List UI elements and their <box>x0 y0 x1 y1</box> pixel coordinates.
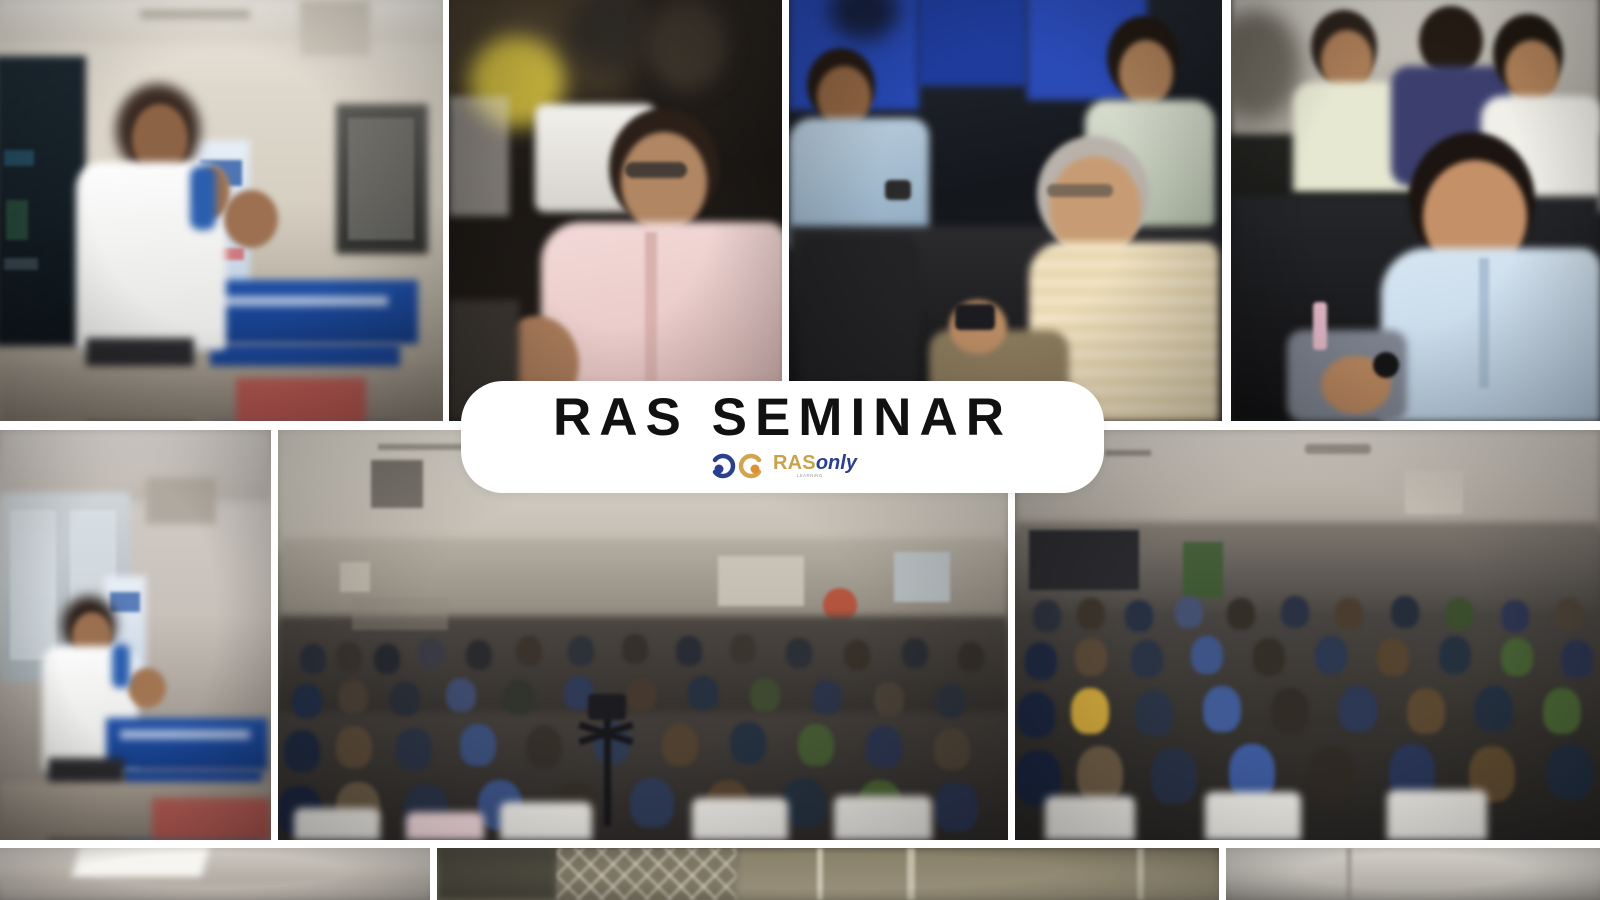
photo-strip-corridor <box>437 848 1219 900</box>
brand-logo: RASonly LEARNING <box>708 451 857 481</box>
page-title: RAS SEMINAR <box>553 391 1012 444</box>
rasonly-logo-icon <box>708 452 766 480</box>
brand-ras: RAS <box>773 452 816 474</box>
photo-collage: RAS SEMINAR RASonly LEARNING <box>0 0 1600 900</box>
photo-attendee-senior <box>789 0 1222 421</box>
brand-only: only <box>816 452 857 474</box>
photo-attendee-blue-shirt <box>1231 0 1600 421</box>
photo-strip-hall-ceiling <box>0 848 430 900</box>
brand-text-group: RASonly LEARNING <box>773 453 857 478</box>
photo-speaker-podium <box>0 0 443 421</box>
photo-audience-hall-right <box>1015 430 1600 840</box>
photo-attendee-pink-shirt <box>449 0 782 421</box>
photo-strip-wall <box>1226 848 1600 900</box>
brand-tagline: LEARNING <box>797 474 823 478</box>
brand-wordmark: RASonly <box>773 453 857 473</box>
title-card: RAS SEMINAR RASonly LEARNING <box>461 381 1104 493</box>
photo-speaker-wide <box>0 430 271 840</box>
